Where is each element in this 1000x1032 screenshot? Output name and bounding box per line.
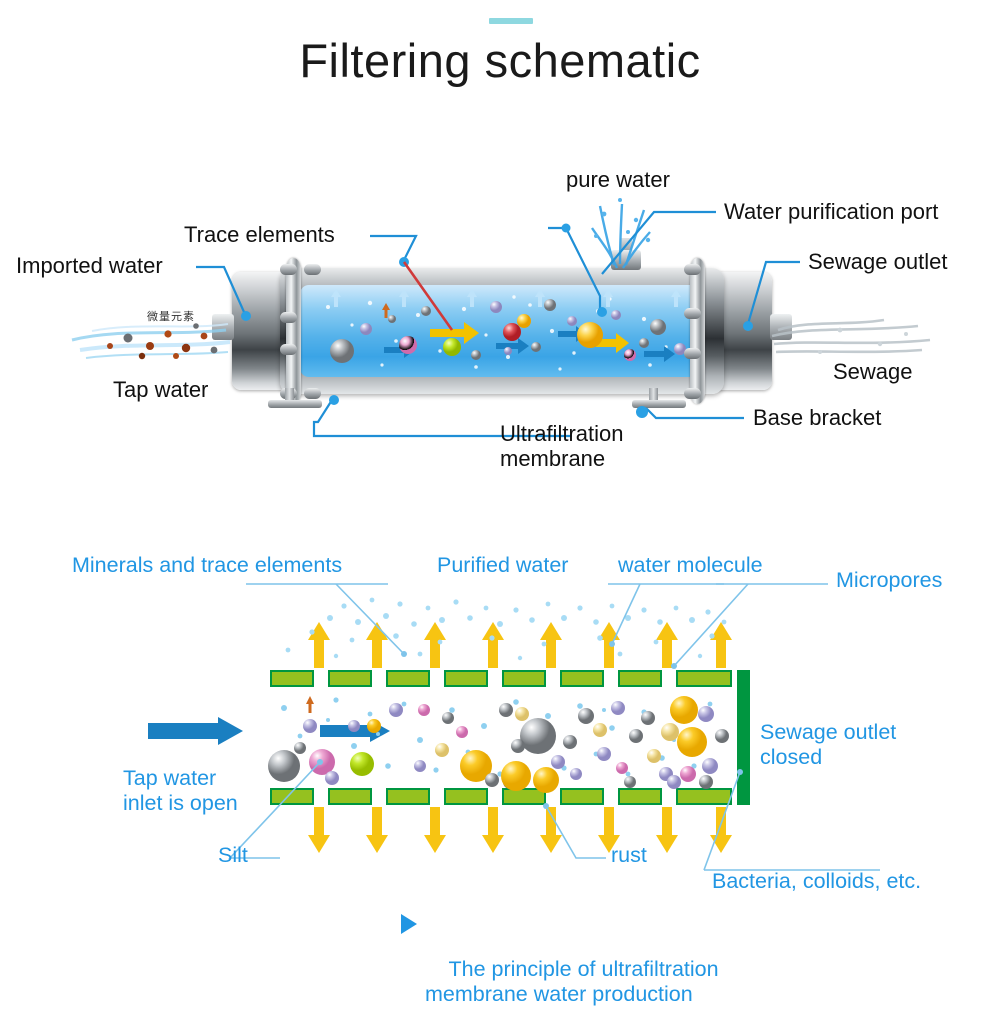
- label-micropores: Micropores: [836, 568, 942, 593]
- caption-text: The principle of ultrafiltration membran…: [425, 957, 719, 1006]
- label-rust: rust: [611, 843, 647, 868]
- label-purified-water: Purified water: [437, 553, 568, 578]
- bottom-leader-lines: [0, 0, 1000, 1000]
- label-water-molecule: water molecule: [618, 553, 763, 578]
- label-minerals-and-trace-elements: Minerals and trace elements: [72, 553, 342, 578]
- schematic-page: Filtering schematic: [0, 0, 1000, 1000]
- label-silt: Silt: [218, 843, 248, 868]
- label-bacteria-colloids-etc: Bacteria, colloids, etc.: [712, 869, 921, 894]
- label-tap-water-inlet-is-open: Tap water inlet is open: [123, 766, 238, 815]
- label-sewage-outlet-closed: Sewage outlet closed: [760, 720, 896, 769]
- play-triangle-icon: [401, 914, 417, 934]
- caption: The principle of ultrafiltration membran…: [425, 908, 719, 1032]
